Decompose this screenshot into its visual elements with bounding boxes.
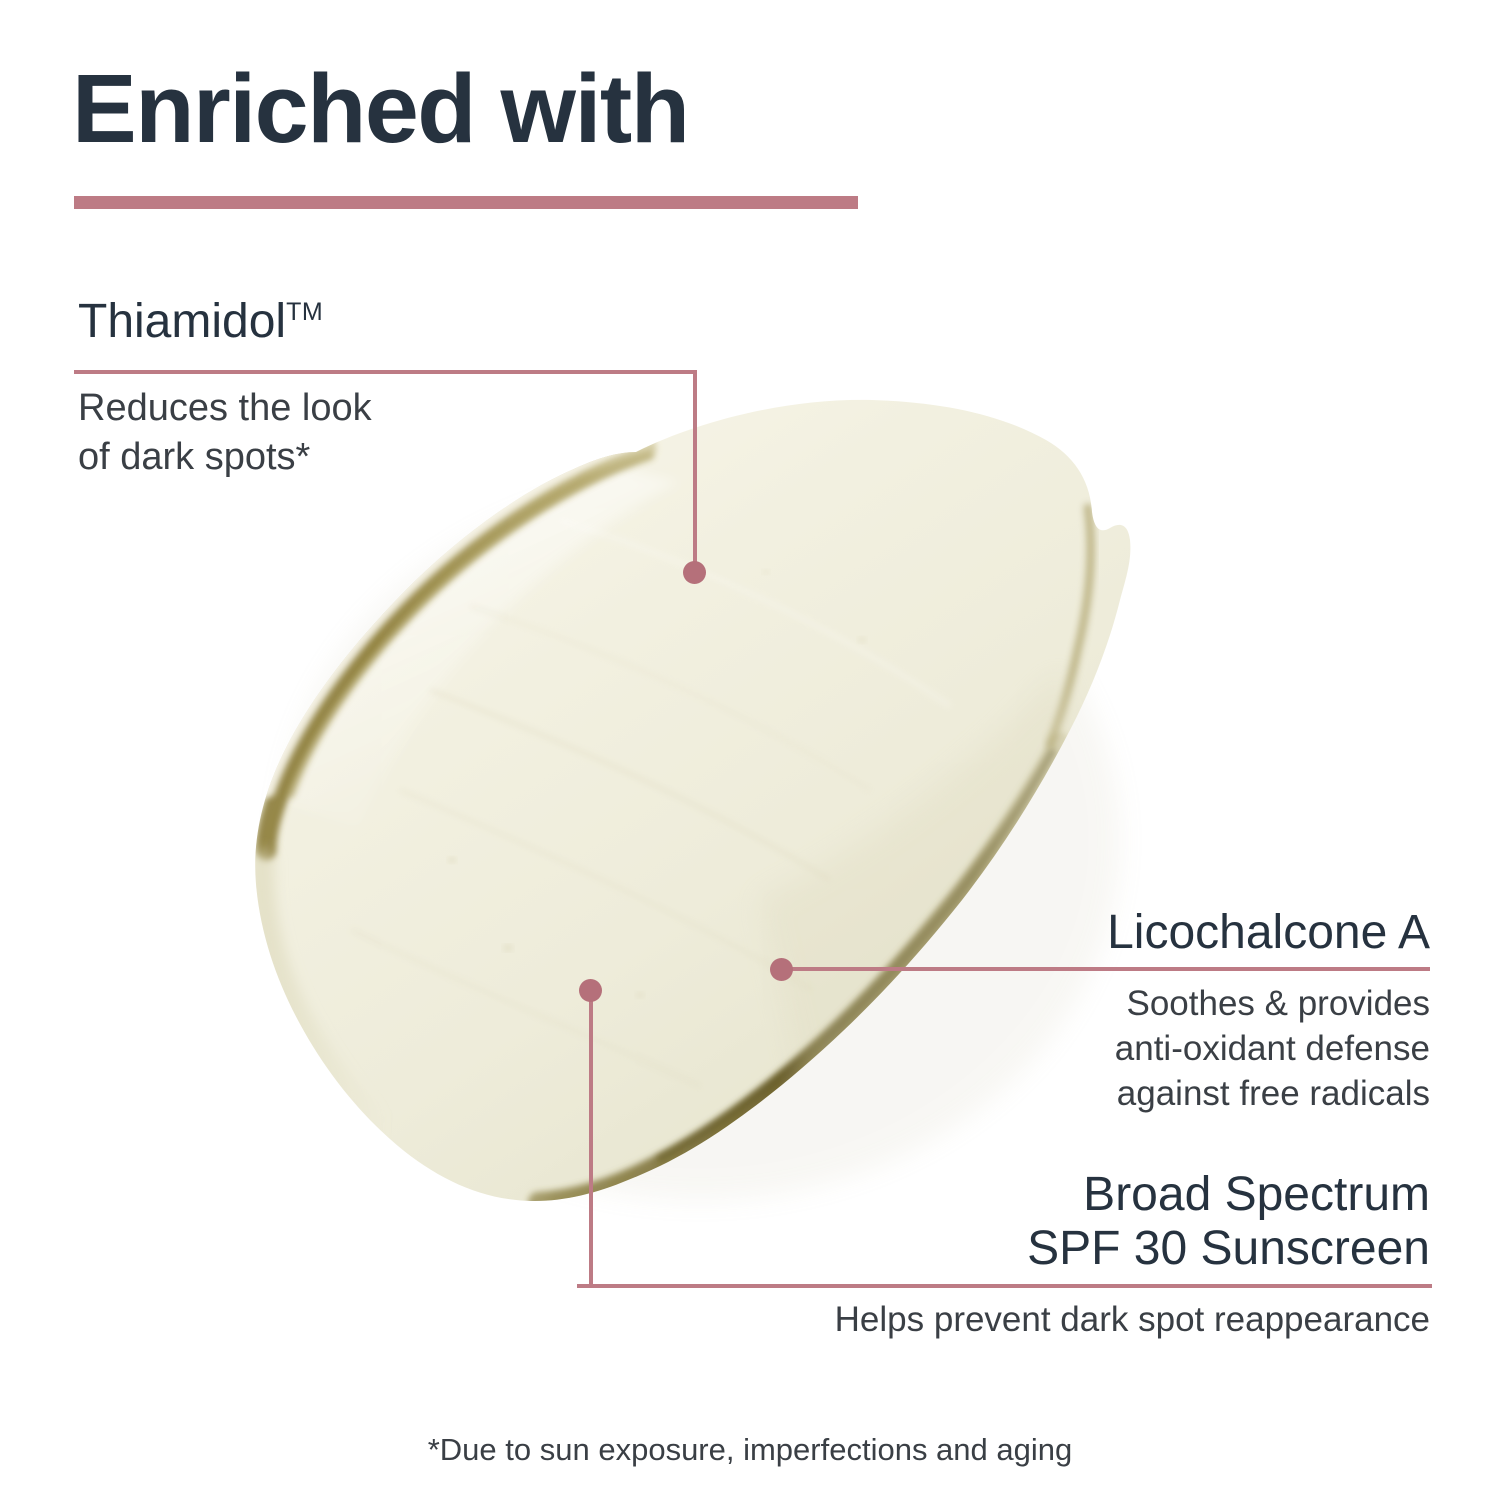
callout-title-thiamidol: ThiamidolTM — [78, 297, 323, 348]
callout-title-line: Broad Spectrum — [1027, 1168, 1430, 1222]
callout-body-line: anti-oxidant defense — [790, 1027, 1430, 1072]
leader-line-thiamidol — [693, 370, 697, 574]
leader-dot-thiamidol — [683, 561, 706, 584]
callout-body-spf: Helps prevent dark spot reappearance — [835, 1298, 1430, 1343]
page-title: Enriched with — [72, 58, 688, 160]
callout-body-thiamidol: Reduces the look of dark spots* — [78, 384, 372, 481]
callout-body-line: Reduces the look — [78, 384, 372, 433]
callout-body-licochalcone: Soothes & provides anti-oxidant defense … — [790, 982, 1430, 1116]
footnote: *Due to sun exposure, imperfections and … — [0, 1432, 1500, 1468]
leader-dot-licochalcone — [770, 958, 793, 981]
callout-title-line: SPF 30 Sunscreen — [1027, 1222, 1430, 1276]
callout-title-spf: Broad Spectrum SPF 30 Sunscreen — [1027, 1168, 1430, 1276]
callout-title-thiamidol-text: Thiamidol — [78, 295, 286, 348]
callout-body-line: against free radicals — [790, 1072, 1430, 1117]
infographic-canvas: Enriched with ThiamidolTM Reduces the lo… — [0, 0, 1500, 1500]
callout-body-line: of dark spots* — [78, 433, 372, 482]
page-title-rule — [74, 196, 858, 209]
callout-rule-licochalcone — [790, 967, 1430, 971]
callout-body-line: Soothes & provides — [790, 982, 1430, 1027]
callout-title-licochalcone: Licochalcone A — [1107, 908, 1430, 959]
callout-rule-thiamidol — [74, 370, 697, 374]
callout-rule-spf — [577, 1284, 1432, 1288]
leader-line-spf — [589, 998, 593, 1286]
leader-dot-spf — [579, 979, 602, 1002]
trademark-symbol: TM — [286, 298, 323, 326]
